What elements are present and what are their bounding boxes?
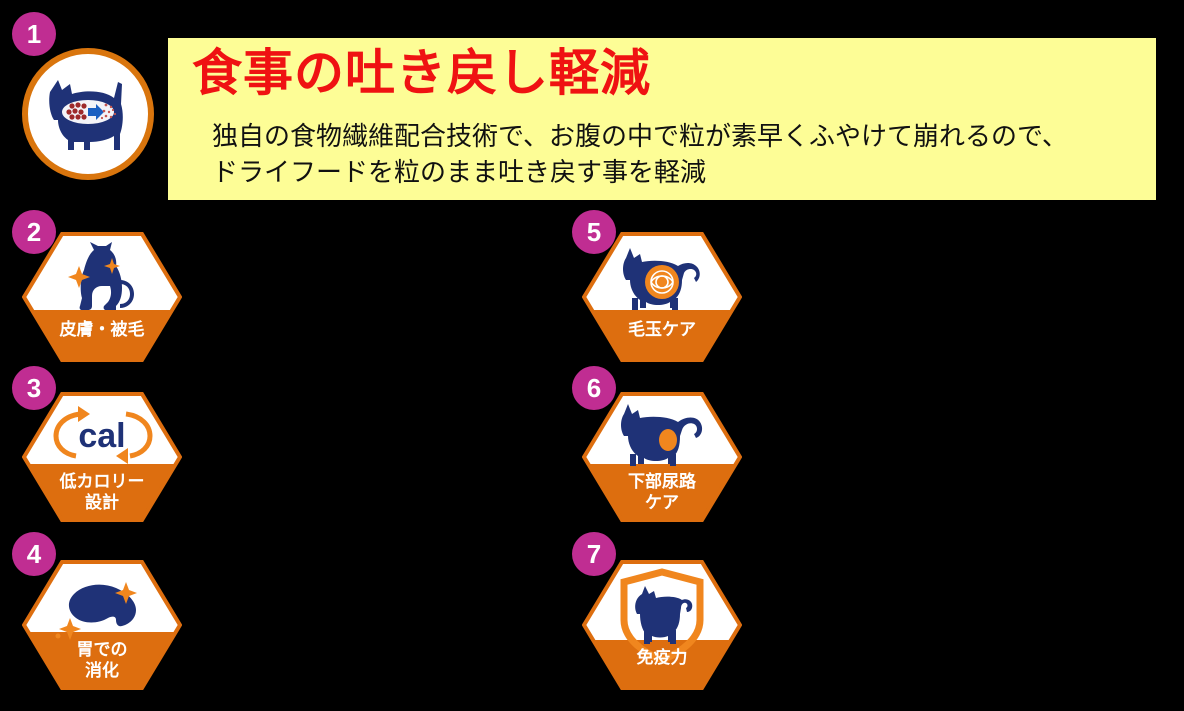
- feature-one-block: 1 食事の吐き戻し軽減 独自の食物繊維配合技術で、お腹の中で粒が素早くふやけて崩…: [0, 0, 1184, 210]
- hexagon-shape-2: [22, 232, 182, 362]
- feature-badge-7: 免疫力: [582, 560, 742, 690]
- description-line-2: ドライフードを粒のまま吐き戻す事を軽減: [212, 154, 1068, 190]
- cal-icon-text: cal: [78, 417, 125, 455]
- feature-badge-4: 胃での 消化: [22, 560, 182, 690]
- feature-badge-3: cal 低カロリー 設計: [22, 392, 182, 522]
- hexagon-shape-4: [22, 560, 182, 690]
- hexagon-shape-7: [582, 560, 742, 690]
- hairball-icon: [645, 265, 679, 299]
- feature-number-badge-6: 6: [572, 366, 616, 410]
- feature-number-badge-2: 2: [12, 210, 56, 254]
- hexagon-shape-6: [582, 392, 742, 522]
- cat-digestion-circle-icon: [22, 48, 154, 180]
- feature-one-panel: 食事の吐き戻し軽減 独自の食物繊維配合技術で、お腹の中で粒が素早くふやけて崩れる…: [168, 38, 1156, 200]
- feature-number-badge-7: 7: [572, 532, 616, 576]
- feature-badge-6: 下部尿路 ケア: [582, 392, 742, 522]
- feature-badge-2: 皮膚・被毛: [22, 232, 182, 362]
- feature-number-badge-4: 4: [12, 532, 56, 576]
- page-title: 食事の吐き戻し軽減: [192, 42, 651, 104]
- cat-digestion-svg: [28, 54, 148, 174]
- hexagon-shape-3: cal: [22, 392, 182, 522]
- description-line-1: 独自の食物繊維配合技術で、お腹の中で粒が素早くふやけて崩れるので、: [212, 118, 1068, 154]
- feature-number-badge-1: 1: [12, 12, 56, 56]
- feature-badge-5: 毛玉ケア: [582, 232, 742, 362]
- feature-number-badge-3: 3: [12, 366, 56, 410]
- bladder-dot-icon: [659, 429, 677, 451]
- hexagon-shape-5: [582, 232, 742, 362]
- feature-one-description: 独自の食物繊維配合技術で、お腹の中で粒が素早くふやけて崩れるので、 ドライフード…: [212, 118, 1068, 190]
- feature-number-badge-5: 5: [572, 210, 616, 254]
